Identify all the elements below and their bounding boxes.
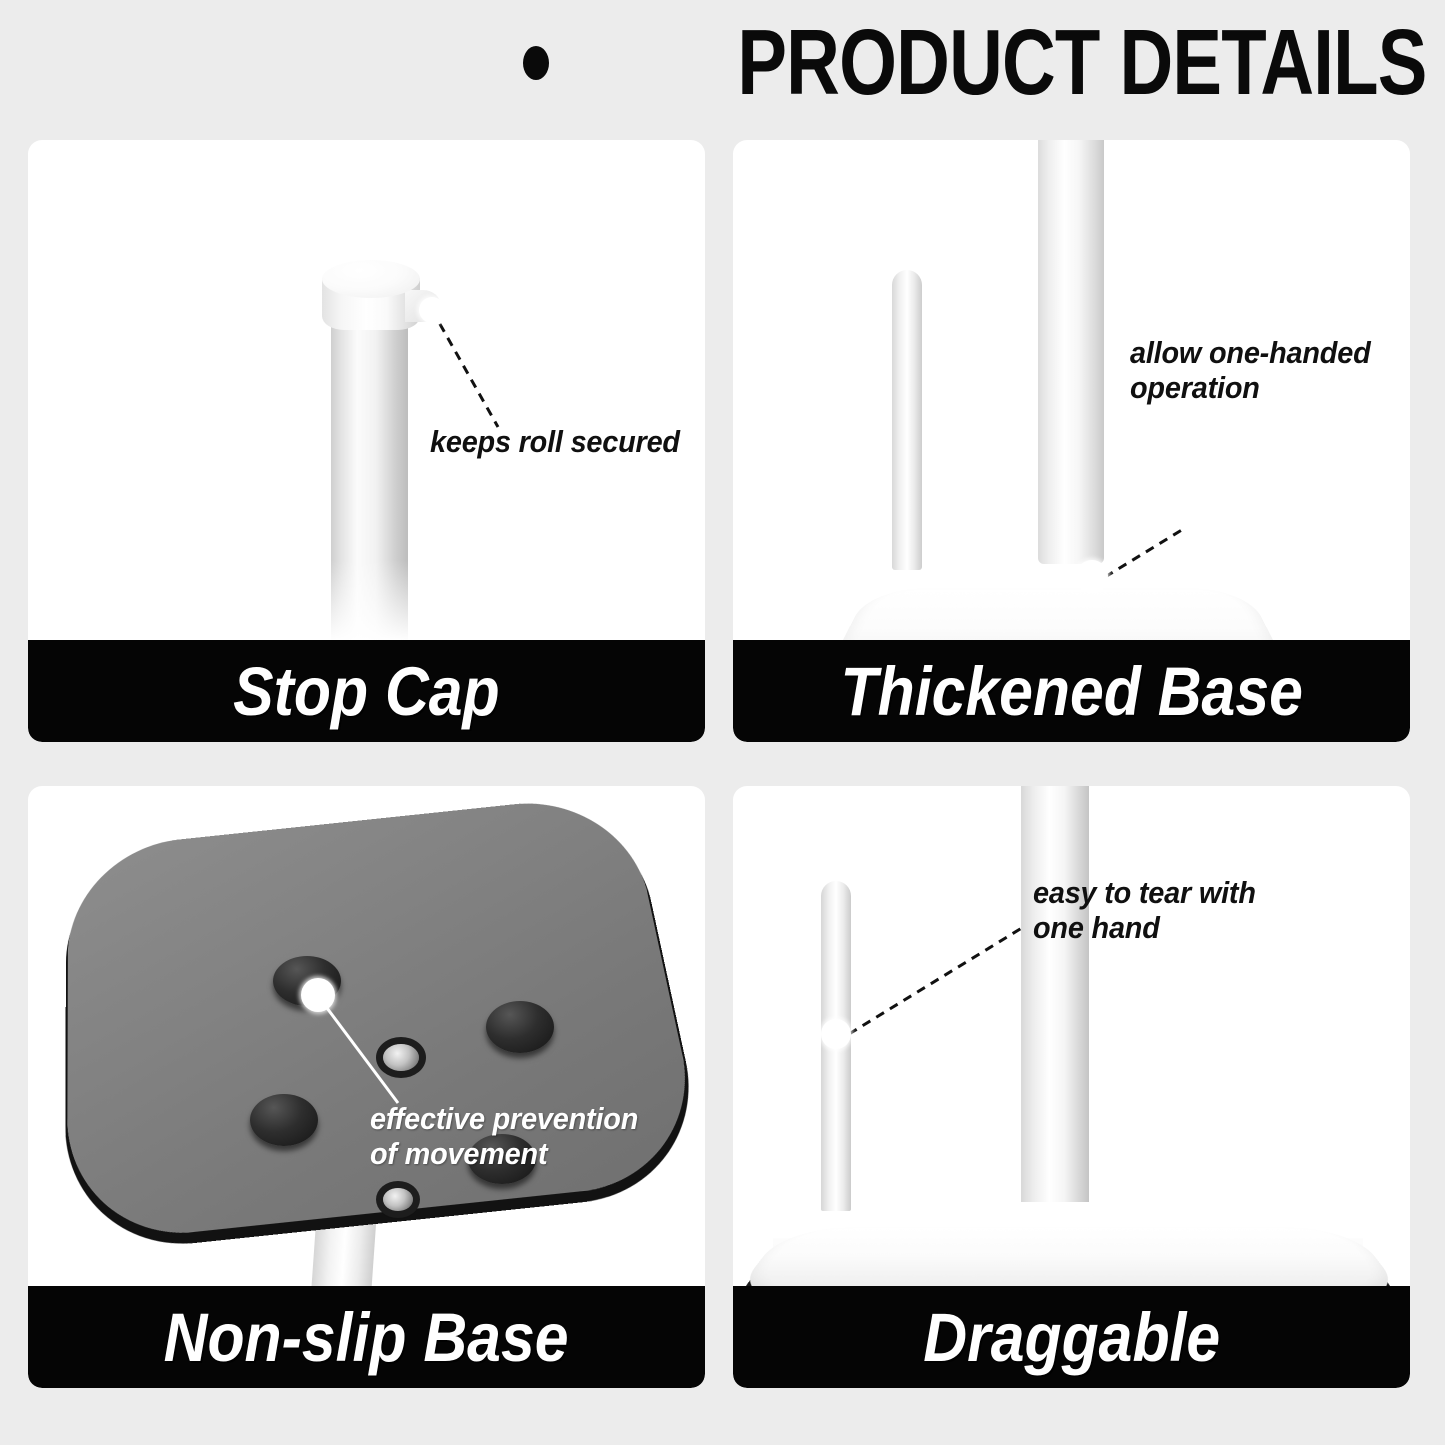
rod-fade-overlay (331, 560, 408, 640)
center-post (1038, 140, 1104, 564)
thickened-base-illustration: allow one-handed operation (733, 140, 1410, 640)
stop-cap-illustration: keeps roll secured (28, 140, 705, 640)
base-top-surface (733, 1228, 1410, 1286)
caption-label-stop-cap: Stop Cap (233, 657, 499, 726)
page-title: PRODUCT DETAILS (738, 18, 1427, 106)
tear-assist-rod (892, 270, 922, 570)
callout-thickened-base: allow one-handed operation (1130, 336, 1370, 405)
draggable-illustration: easy to tear with one hand (733, 786, 1410, 1286)
caption-label-thickened-base: Thickened Base (840, 657, 1302, 726)
product-details-infographic: PRODUCT DETAILS keeps roll secured Stop … (0, 0, 1445, 1445)
rubber-foot (486, 1001, 554, 1053)
center-post (1021, 786, 1089, 1202)
leader-dot-non-slip-base (301, 978, 335, 1012)
callout-stop-cap: keeps roll secured (430, 425, 680, 460)
panel-non-slip-base: effective prevention of movement Non-sli… (28, 786, 705, 1388)
caption-bar-non-slip-base: Non-slip Base (28, 1286, 705, 1388)
leader-dot-draggable (821, 1019, 851, 1049)
leader-dot-thickened-base (1076, 560, 1108, 592)
callout-non-slip-base: effective prevention of movement (370, 1102, 638, 1171)
stop-cap-top (322, 260, 420, 298)
caption-label-non-slip-base: Non-slip Base (164, 1303, 569, 1372)
base-underside-plate (67, 793, 705, 1246)
panel-draggable: easy to tear with one hand Draggable (733, 786, 1410, 1388)
page-header: PRODUCT DETAILS (0, 0, 1445, 125)
lower-screw (383, 1188, 413, 1211)
caption-bar-stop-cap: Stop Cap (28, 640, 705, 742)
center-screw (383, 1044, 419, 1071)
panel-stop-cap: keeps roll secured Stop Cap (28, 140, 705, 742)
bullet-dot-icon (523, 46, 549, 80)
caption-bar-thickened-base: Thickened Base (733, 640, 1410, 742)
base-top-surface (811, 589, 1305, 640)
rubber-foot (250, 1094, 318, 1146)
leader-dot-stop-cap (419, 297, 445, 323)
panel-thickened-base: allow one-handed operation Thickened Bas… (733, 140, 1410, 742)
non-slip-base-illustration: effective prevention of movement (28, 786, 705, 1286)
callout-draggable: easy to tear with one hand (1033, 876, 1256, 945)
caption-label-draggable: Draggable (923, 1303, 1220, 1372)
caption-bar-draggable: Draggable (733, 1286, 1410, 1388)
